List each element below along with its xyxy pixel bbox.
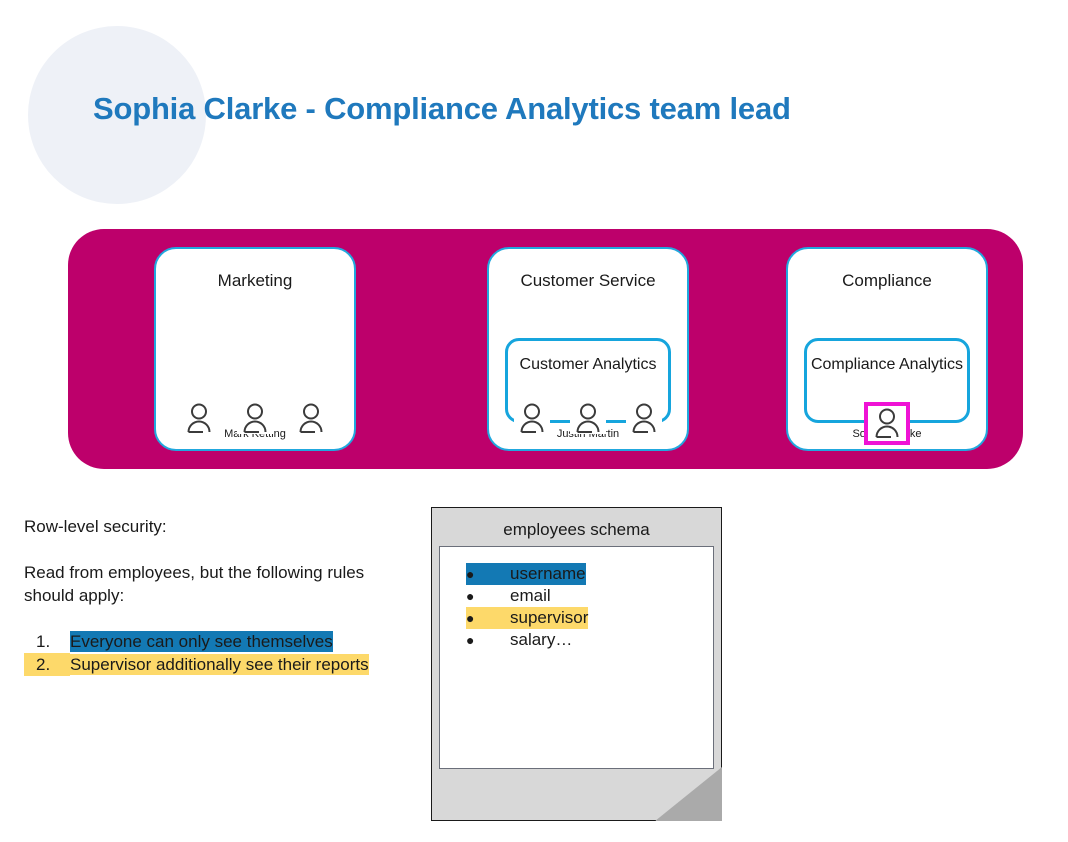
person-icon [630,402,658,434]
schema-field-row: ● supervisor [440,607,713,629]
rls-rule-number: 2. [24,653,70,676]
department-title: Customer Service [489,271,687,291]
person-icon-slot[interactable] [626,402,662,434]
person-icon-slot[interactable] [570,402,606,434]
person-icon [518,402,546,434]
page-title: Sophia Clarke - Compliance Analytics tea… [93,91,791,127]
people-row [788,402,986,445]
team-label: Customer Analytics [508,355,668,375]
people-row [489,402,687,434]
bullet-icon: ● [466,607,510,629]
department-title: Marketing [156,271,354,291]
schema-field-name: email [510,585,551,607]
rls-heading: Row-level security: [24,515,404,538]
department-card-marketing[interactable]: Marketing [154,247,356,451]
bullet-icon: ● [466,563,510,585]
team-label: Compliance Analytics [807,355,967,375]
org-panel: Marketing [68,229,1023,469]
rls-rule-text: Everyone can only see themselves [70,630,404,653]
rls-rule-text-highlight: Supervisor additionally see their report… [70,654,369,675]
person-icon-slot[interactable] [514,402,550,434]
department-card-customer-service[interactable]: Customer Service Customer Analytics [487,247,689,451]
person-icon-slot-highlighted[interactable] [864,402,910,445]
row-level-security-block: Row-level security: Read from employees,… [24,515,404,676]
bullet-icon: ● [466,629,510,651]
rls-rule-text-highlight: Everyone can only see themselves [70,631,333,652]
person-icon-slot[interactable] [181,402,217,434]
schema-title: employees schema [431,520,722,540]
rls-rules-list: 1. Everyone can only see themselves 2. S… [24,630,404,676]
department-title: Compliance [788,271,986,291]
rls-rule-text: Supervisor additionally see their report… [70,653,404,676]
person-icon [185,402,213,434]
schema-body: ● username ● email ● supervisor ● salary… [439,546,714,769]
bullet-icon: ● [466,585,510,607]
rls-rule-item: 2. Supervisor additionally see their rep… [24,653,404,676]
schema-field-name: username [510,563,586,585]
person-icon [241,402,269,434]
schema-field-name: salary… [510,629,572,651]
department-card-compliance[interactable]: Compliance Compliance Analytics Sophia C… [786,247,988,451]
person-icon [297,402,325,434]
employees-schema-document[interactable]: employees schema ● username ● email ● su… [431,507,722,821]
person-icon [574,402,602,434]
person-icon-slot[interactable] [293,402,329,434]
schema-field-name: supervisor [510,607,588,629]
schema-field-row: ● salary… [440,629,713,651]
schema-field-list: ● username ● email ● supervisor ● salary… [440,547,713,651]
people-row [156,402,354,434]
rls-rule-item: 1. Everyone can only see themselves [24,630,404,653]
person-icon-slot[interactable] [237,402,273,434]
rls-intro: Read from employees, but the following r… [24,561,404,607]
person-icon [873,407,901,439]
schema-field-row: ● email [440,585,713,607]
schema-field-row: ● username [440,563,713,585]
rls-rule-number: 1. [24,630,70,653]
